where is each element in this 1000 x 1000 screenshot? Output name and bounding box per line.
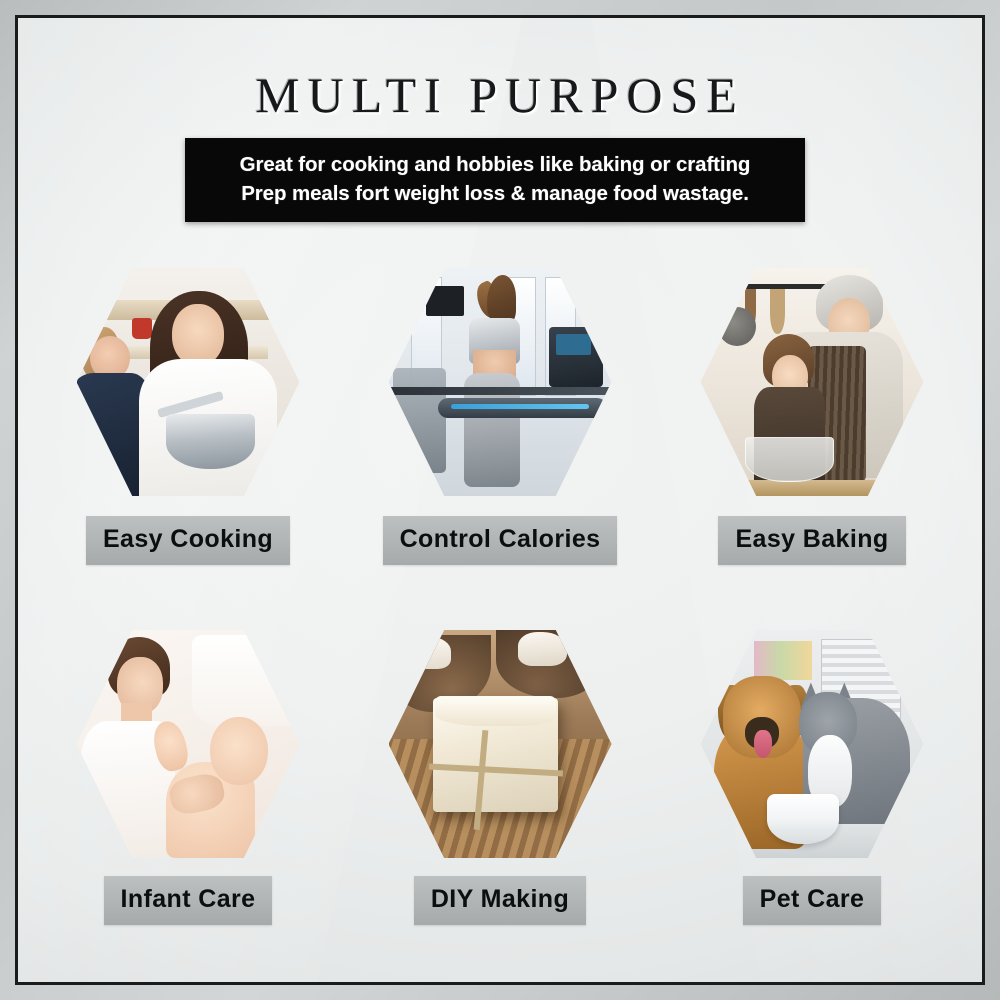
two-women-cooking-photo bbox=[77, 268, 300, 496]
feature-cell-pet-care: Pet Care bbox=[656, 630, 968, 970]
feature-cell-easy-cooking: Easy Cooking bbox=[32, 268, 344, 608]
subtitle-line-2: Prep meals fort weight loss & manage foo… bbox=[199, 179, 791, 208]
mother-and-baby-photo bbox=[77, 630, 300, 858]
infographic-canvas: MULTI PURPOSE Great for cooking and hobb… bbox=[18, 18, 982, 982]
handmade-soap-bar-photo bbox=[389, 630, 612, 858]
feature-cell-diy-making: DIY Making bbox=[344, 630, 656, 970]
grandmother-child-baking-photo bbox=[701, 268, 924, 496]
feature-cell-easy-baking: Easy Baking bbox=[656, 268, 968, 608]
treadmill-gym-photo bbox=[389, 268, 612, 496]
caption-easy-baking: Easy Baking bbox=[718, 516, 905, 565]
caption-pet-care: Pet Care bbox=[743, 876, 882, 925]
easy-cooking-hexagon-image bbox=[77, 268, 300, 496]
caption-infant-care: Infant Care bbox=[104, 876, 273, 925]
infant-care-hexagon-image bbox=[77, 630, 300, 858]
feature-grid: Easy Cooking Control Calories bbox=[32, 268, 968, 970]
caption-control-calories: Control Calories bbox=[383, 516, 618, 565]
control-calories-hexagon-image bbox=[389, 268, 612, 496]
feature-cell-control-calories: Control Calories bbox=[344, 268, 656, 608]
multi-purpose-infographic: MULTI PURPOSE Great for cooking and hobb… bbox=[0, 0, 1000, 1000]
diy-making-hexagon-image bbox=[389, 630, 612, 858]
caption-easy-cooking: Easy Cooking bbox=[86, 516, 290, 565]
subtitle-banner: Great for cooking and hobbies like bakin… bbox=[185, 138, 805, 222]
subtitle-line-1: Great for cooking and hobbies like bakin… bbox=[199, 150, 791, 179]
feature-cell-infant-care: Infant Care bbox=[32, 630, 344, 970]
easy-baking-hexagon-image bbox=[701, 268, 924, 496]
pet-care-hexagon-image bbox=[701, 630, 924, 858]
caption-diy-making: DIY Making bbox=[414, 876, 586, 925]
dog-and-cat-photo bbox=[701, 630, 924, 858]
page-title: MULTI PURPOSE bbox=[18, 66, 982, 124]
